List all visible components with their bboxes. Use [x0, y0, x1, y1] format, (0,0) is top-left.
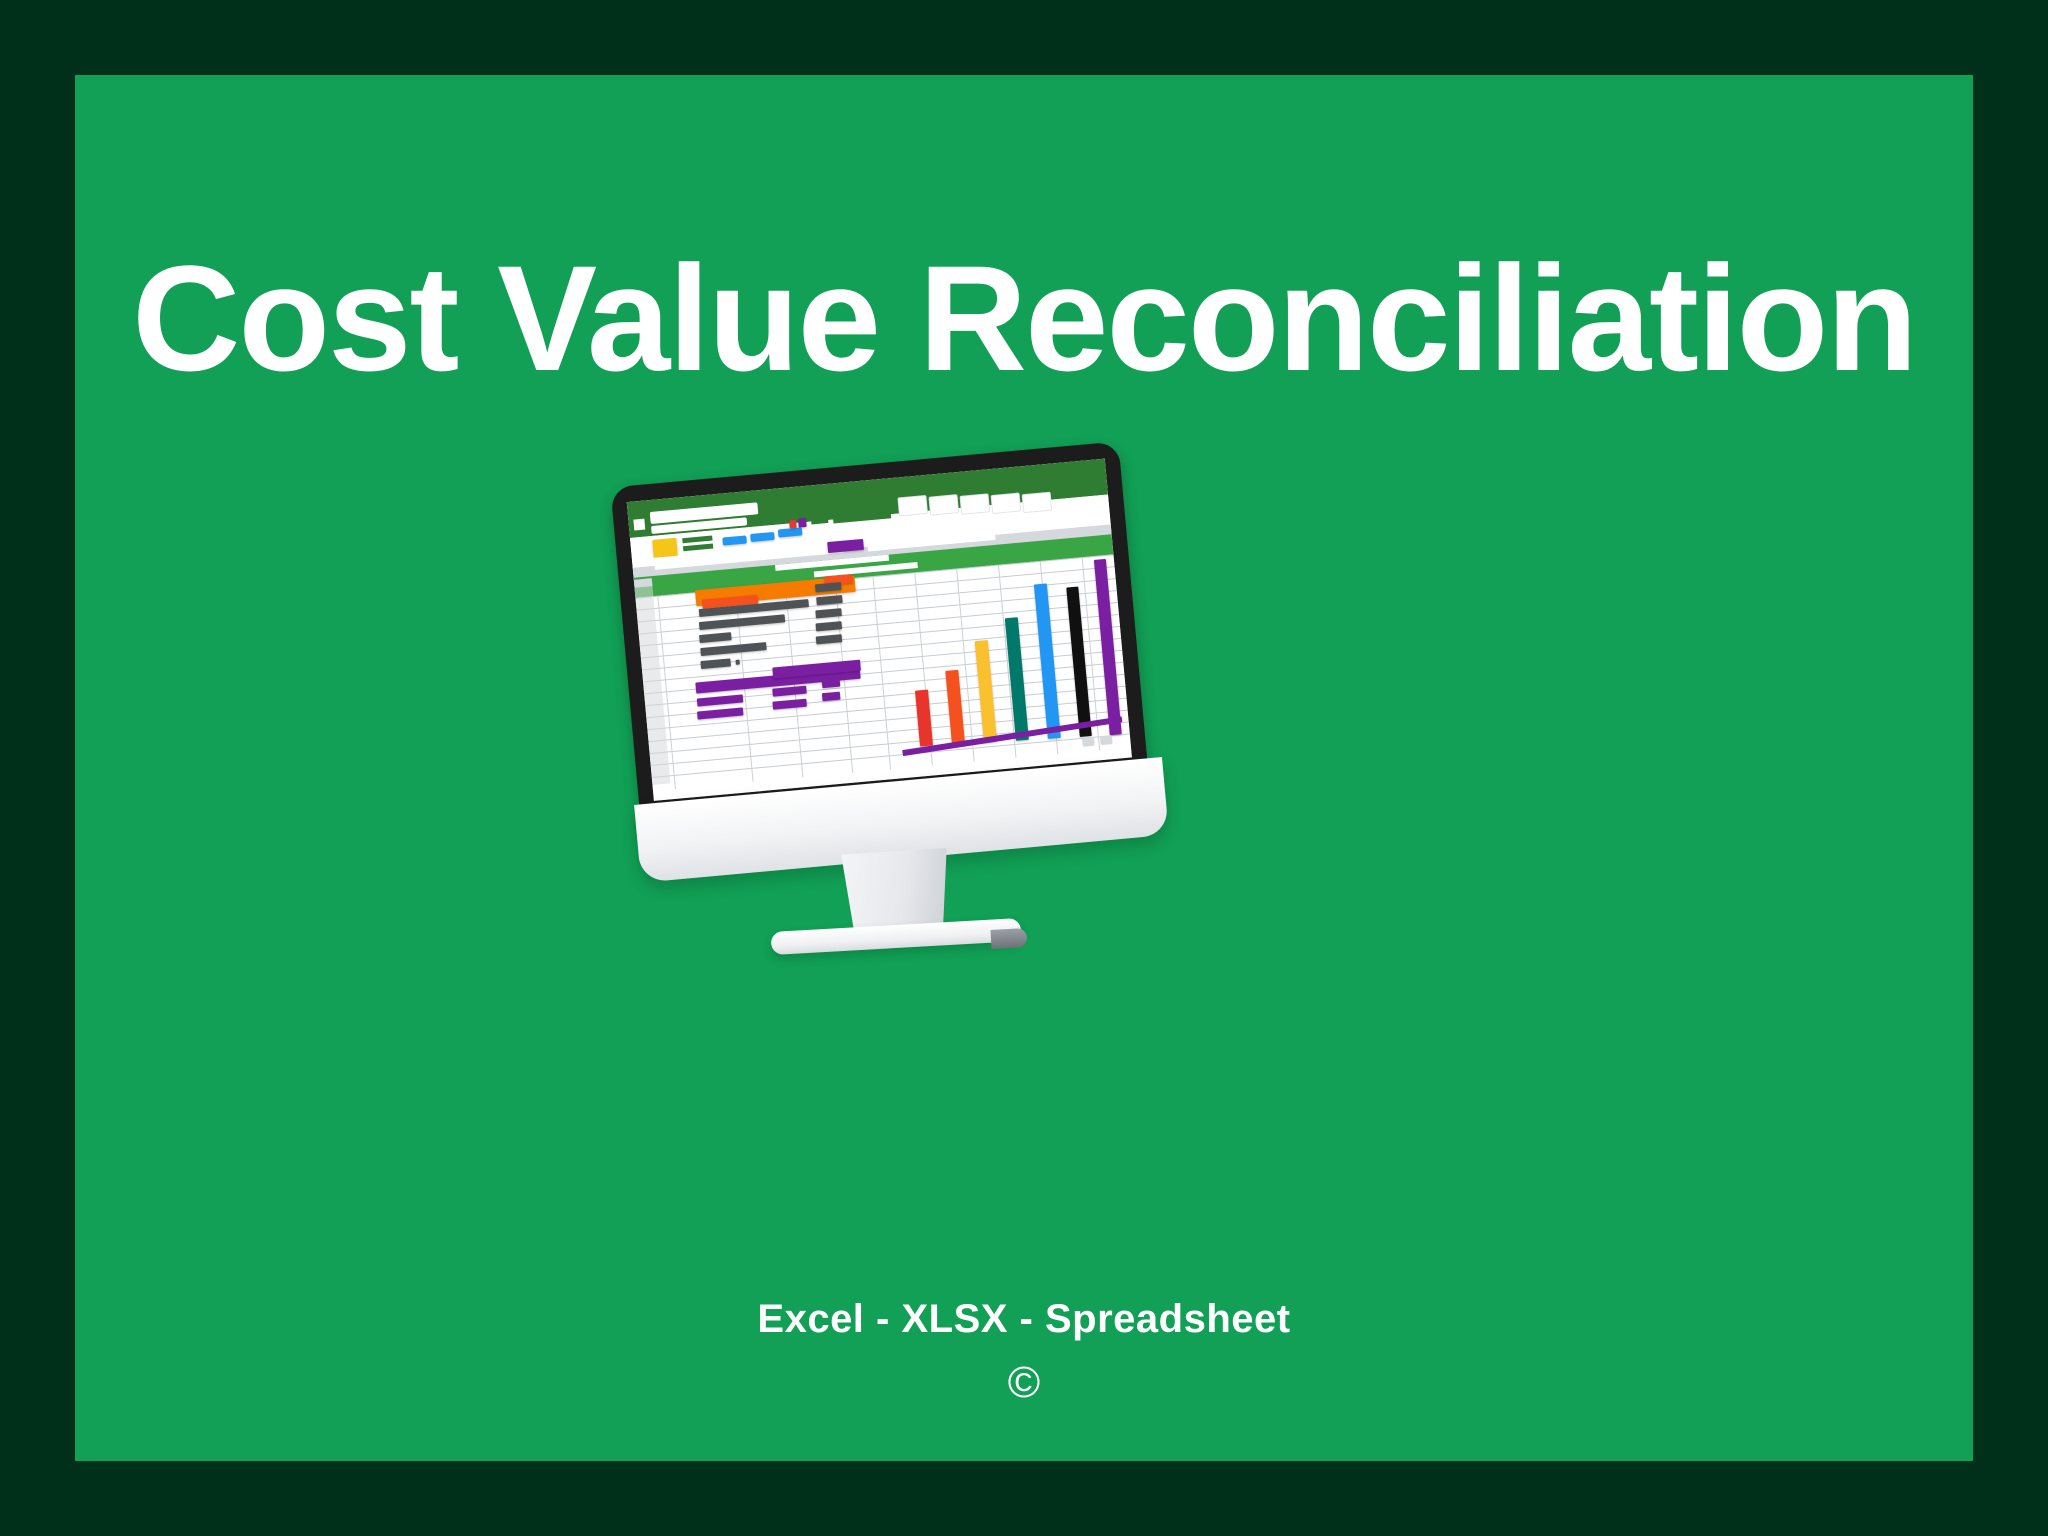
poster-canvas: Cost Value Reconciliation	[0, 0, 2048, 1536]
ribbon-tab-2[interactable]	[928, 494, 959, 516]
page-title: Cost Value Reconciliation	[75, 243, 1973, 393]
monitor-base-tip	[990, 928, 1027, 949]
total-cell	[822, 692, 841, 702]
select-all-corner[interactable]	[634, 578, 653, 588]
sheet-tab-2[interactable]	[1100, 735, 1113, 745]
chart-bar	[1034, 583, 1061, 739]
monitor-body	[633, 463, 1333, 1103]
spreadsheet-app	[627, 459, 1132, 801]
chart-bar	[915, 690, 933, 747]
chart-bar	[1005, 617, 1029, 741]
subtitle: Excel - XLSX - Spreadsheet	[75, 1297, 1973, 1342]
ribbon-tab-1[interactable]	[897, 495, 928, 517]
total-cell	[822, 679, 841, 689]
ribbon-tab-4[interactable]	[991, 492, 1022, 514]
chart-bar	[945, 670, 965, 745]
copyright-symbol: ©	[75, 1358, 1973, 1408]
alert-button[interactable]	[789, 520, 797, 529]
chart-bar	[1066, 587, 1092, 737]
app-logo-icon	[633, 519, 645, 531]
monitor-screen	[627, 459, 1132, 801]
data-cell	[735, 660, 739, 665]
accent-button[interactable]	[798, 518, 807, 528]
poster-inner-panel: Cost Value Reconciliation	[75, 75, 1973, 1461]
monitor-illustration	[633, 463, 1333, 1103]
ribbon-tab-5[interactable]	[1022, 492, 1053, 514]
sheet-tab-1[interactable]	[1082, 737, 1095, 747]
cell-style-swatch[interactable]	[652, 538, 678, 558]
chart-bar	[975, 640, 997, 743]
ribbon-tab-3[interactable]	[960, 493, 991, 515]
